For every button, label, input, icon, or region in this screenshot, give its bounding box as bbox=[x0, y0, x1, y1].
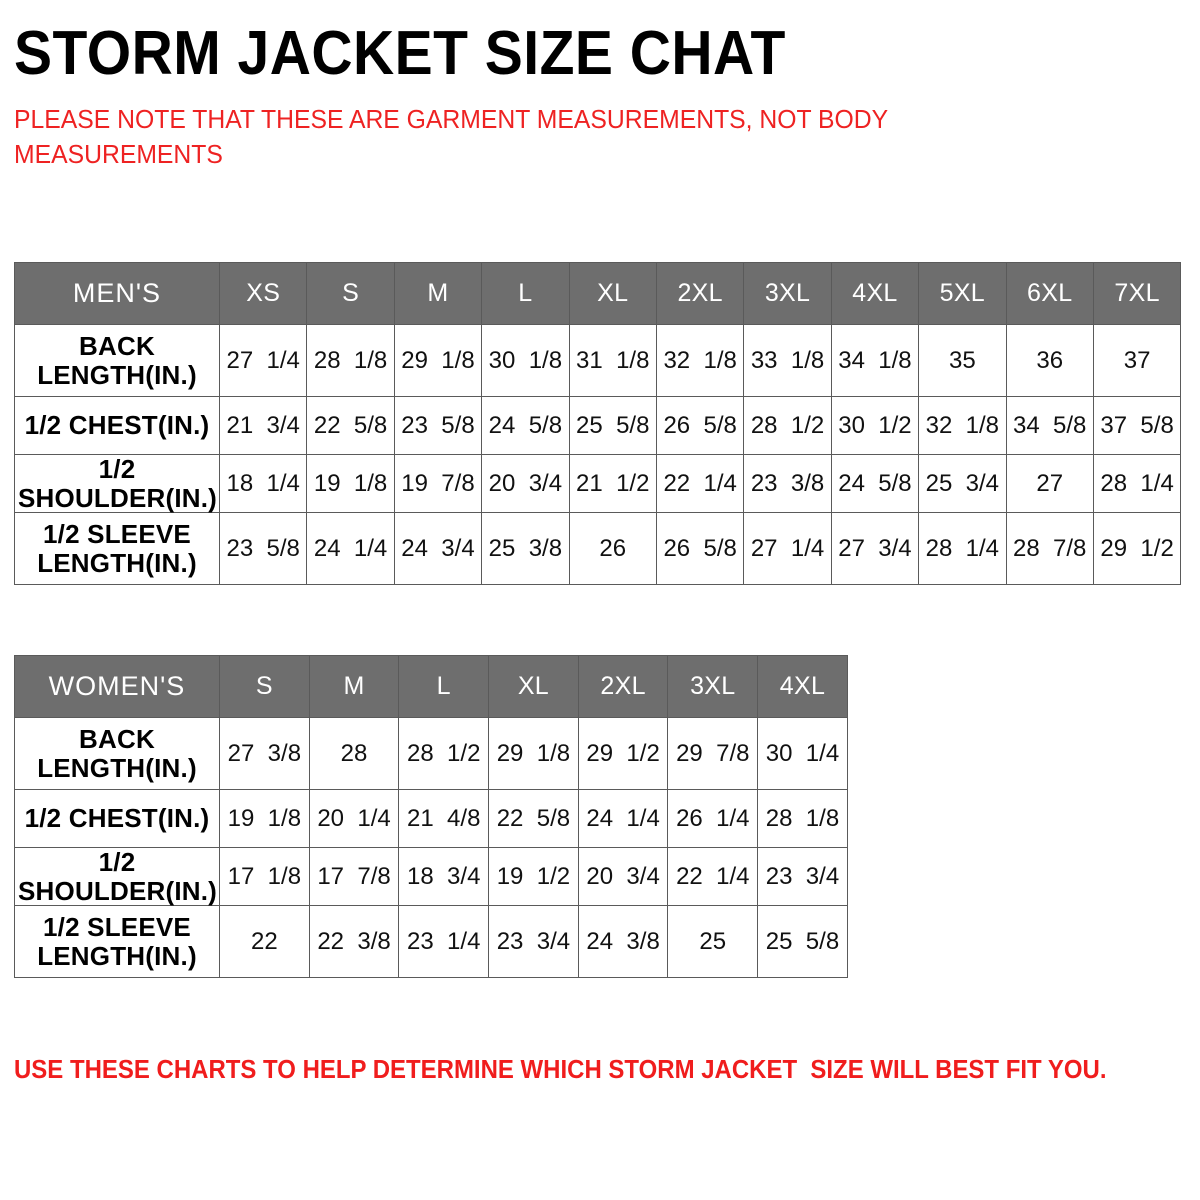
womens-cell-r0-c3: 29 1/8 bbox=[489, 718, 579, 790]
table-row: BACK LENGTH(IN.)27 1/428 1/829 1/830 1/8… bbox=[15, 325, 1181, 397]
mens-size-header-3xl: 3XL bbox=[744, 263, 831, 325]
mens-table-head: MEN'SXSSMLXL2XL3XL4XL5XL6XL7XL bbox=[15, 263, 1181, 325]
mens-cell-r3-c9: 28 7/8 bbox=[1006, 513, 1093, 585]
table-row: 1/2 SLEEVE LENGTH(IN.)2222 3/823 1/423 3… bbox=[15, 906, 848, 978]
womens-cell-r1-c2: 21 4/8 bbox=[399, 790, 489, 848]
mens-cell-r3-c3: 25 3/8 bbox=[482, 513, 569, 585]
womens-measurement-label-3: 1/2 SLEEVE LENGTH(IN.) bbox=[15, 906, 220, 978]
table-row: 1/2 CHEST(IN.)19 1/820 1/421 4/822 5/824… bbox=[15, 790, 848, 848]
mens-cell-r2-c1: 19 1/8 bbox=[307, 455, 394, 513]
mens-cell-r1-c5: 26 5/8 bbox=[656, 397, 743, 455]
womens-size-header-xl: XL bbox=[489, 656, 579, 718]
mens-cell-r0-c7: 34 1/8 bbox=[831, 325, 918, 397]
womens-cell-r0-c5: 29 7/8 bbox=[668, 718, 758, 790]
womens-cell-r3-c6: 25 5/8 bbox=[758, 906, 848, 978]
mens-cell-r0-c9: 36 bbox=[1006, 325, 1093, 397]
mens-cell-r3-c10: 29 1/2 bbox=[1093, 513, 1180, 585]
womens-table-head: WOMEN'SSMLXL2XL3XL4XL bbox=[15, 656, 848, 718]
womens-measurement-label-1: 1/2 CHEST(IN.) bbox=[15, 790, 220, 848]
womens-cell-r1-c1: 20 1/4 bbox=[309, 790, 399, 848]
size-chart-page: STORM JACKET SIZE CHAT PLEASE NOTE THAT … bbox=[0, 0, 1200, 1200]
womens-size-header-2xl: 2XL bbox=[578, 656, 668, 718]
mens-size-header-xl: XL bbox=[569, 263, 656, 325]
mens-cell-r2-c7: 24 5/8 bbox=[831, 455, 918, 513]
mens-cell-r2-c4: 21 1/2 bbox=[569, 455, 656, 513]
mens-size-header-s: S bbox=[307, 263, 394, 325]
mens-size-header-xs: XS bbox=[220, 263, 307, 325]
mens-cell-r2-c8: 25 3/4 bbox=[919, 455, 1006, 513]
womens-cell-r3-c1: 22 3/8 bbox=[309, 906, 399, 978]
mens-cell-r2-c3: 20 3/4 bbox=[482, 455, 569, 513]
mens-cell-r0-c3: 30 1/8 bbox=[482, 325, 569, 397]
mens-size-header-m: M bbox=[394, 263, 481, 325]
womens-cell-r3-c0: 22 bbox=[220, 906, 310, 978]
mens-cell-r2-c2: 19 7/8 bbox=[394, 455, 481, 513]
mens-size-header-2xl: 2XL bbox=[656, 263, 743, 325]
womens-cell-r0-c0: 27 3/8 bbox=[220, 718, 310, 790]
womens-table-body: BACK LENGTH(IN.)27 3/82828 1/229 1/829 1… bbox=[15, 718, 848, 978]
mens-cell-r3-c2: 24 3/4 bbox=[394, 513, 481, 585]
mens-cell-r3-c0: 23 5/8 bbox=[220, 513, 307, 585]
mens-measurement-label-2: 1/2 SHOULDER(IN.) bbox=[15, 455, 220, 513]
mens-cell-r1-c0: 21 3/4 bbox=[220, 397, 307, 455]
mens-cell-r3-c8: 28 1/4 bbox=[919, 513, 1006, 585]
table-row: 1/2 SLEEVE LENGTH(IN.)23 5/824 1/424 3/4… bbox=[15, 513, 1181, 585]
mens-size-header-6xl: 6XL bbox=[1006, 263, 1093, 325]
mens-cell-r0-c4: 31 1/8 bbox=[569, 325, 656, 397]
womens-cell-r3-c4: 24 3/8 bbox=[578, 906, 668, 978]
womens-size-header-4xl: 4XL bbox=[758, 656, 848, 718]
mens-cell-r0-c2: 29 1/8 bbox=[394, 325, 481, 397]
mens-cell-r2-c6: 23 3/8 bbox=[744, 455, 831, 513]
womens-size-header-3xl: 3XL bbox=[668, 656, 758, 718]
help-determine-note: USE THESE CHARTS TO HELP DETERMINE WHICH… bbox=[14, 1055, 1107, 1086]
womens-size-header-l: L bbox=[399, 656, 489, 718]
womens-cell-r3-c3: 23 3/4 bbox=[489, 906, 579, 978]
mens-cell-r1-c3: 24 5/8 bbox=[482, 397, 569, 455]
mens-measurement-label-1: 1/2 CHEST(IN.) bbox=[15, 397, 220, 455]
table-row: 1/2 SHOULDER(IN.)17 1/817 7/818 3/419 1/… bbox=[15, 848, 848, 906]
womens-cell-r0-c6: 30 1/4 bbox=[758, 718, 848, 790]
mens-cell-r2-c10: 28 1/4 bbox=[1093, 455, 1180, 513]
womens-measurement-label-0: BACK LENGTH(IN.) bbox=[15, 718, 220, 790]
womens-cell-r2-c4: 20 3/4 bbox=[578, 848, 668, 906]
mens-cell-r0-c5: 32 1/8 bbox=[656, 325, 743, 397]
mens-measurement-label-0: BACK LENGTH(IN.) bbox=[15, 325, 220, 397]
page-title: STORM JACKET SIZE CHAT bbox=[14, 0, 1092, 85]
womens-cell-r1-c5: 26 1/4 bbox=[668, 790, 758, 848]
womens-cell-r1-c3: 22 5/8 bbox=[489, 790, 579, 848]
mens-cell-r1-c6: 28 1/2 bbox=[744, 397, 831, 455]
mens-cell-r1-c8: 32 1/8 bbox=[919, 397, 1006, 455]
mens-cell-r1-c2: 23 5/8 bbox=[394, 397, 481, 455]
mens-cell-r0-c10: 37 bbox=[1093, 325, 1180, 397]
mens-cell-r3-c1: 24 1/4 bbox=[307, 513, 394, 585]
table-row: BACK LENGTH(IN.)27 3/82828 1/229 1/829 1… bbox=[15, 718, 848, 790]
mens-cell-r2-c5: 22 1/4 bbox=[656, 455, 743, 513]
mens-header-row: MEN'SXSSMLXL2XL3XL4XL5XL6XL7XL bbox=[15, 263, 1181, 325]
mens-group-header: MEN'S bbox=[15, 263, 220, 325]
mens-cell-r1-c7: 30 1/2 bbox=[831, 397, 918, 455]
mens-table-body: BACK LENGTH(IN.)27 1/428 1/829 1/830 1/8… bbox=[15, 325, 1181, 585]
mens-cell-r1-c1: 22 5/8 bbox=[307, 397, 394, 455]
womens-measurement-label-2: 1/2 SHOULDER(IN.) bbox=[15, 848, 220, 906]
womens-cell-r2-c3: 19 1/2 bbox=[489, 848, 579, 906]
womens-cell-r2-c6: 23 3/4 bbox=[758, 848, 848, 906]
mens-cell-r2-c9: 27 bbox=[1006, 455, 1093, 513]
womens-size-header-s: S bbox=[220, 656, 310, 718]
mens-cell-r3-c5: 26 5/8 bbox=[656, 513, 743, 585]
mens-size-table: MEN'SXSSMLXL2XL3XL4XL5XL6XL7XL BACK LENG… bbox=[14, 262, 1181, 585]
womens-size-table: WOMEN'SSMLXL2XL3XL4XL BACK LENGTH(IN.)27… bbox=[14, 655, 848, 978]
mens-size-header-7xl: 7XL bbox=[1093, 263, 1180, 325]
mens-cell-r1-c4: 25 5/8 bbox=[569, 397, 656, 455]
womens-cell-r2-c2: 18 3/4 bbox=[399, 848, 489, 906]
womens-cell-r3-c2: 23 1/4 bbox=[399, 906, 489, 978]
mens-measurement-label-3: 1/2 SLEEVE LENGTH(IN.) bbox=[15, 513, 220, 585]
womens-cell-r1-c6: 28 1/8 bbox=[758, 790, 848, 848]
womens-cell-r0-c4: 29 1/2 bbox=[578, 718, 668, 790]
mens-cell-r3-c6: 27 1/4 bbox=[744, 513, 831, 585]
mens-cell-r0-c0: 27 1/4 bbox=[220, 325, 307, 397]
womens-cell-r1-c4: 24 1/4 bbox=[578, 790, 668, 848]
mens-size-header-l: L bbox=[482, 263, 569, 325]
womens-cell-r2-c5: 22 1/4 bbox=[668, 848, 758, 906]
mens-cell-r1-c10: 37 5/8 bbox=[1093, 397, 1180, 455]
mens-size-header-4xl: 4XL bbox=[831, 263, 918, 325]
womens-size-header-m: M bbox=[309, 656, 399, 718]
womens-cell-r2-c0: 17 1/8 bbox=[220, 848, 310, 906]
womens-cell-r3-c5: 25 bbox=[668, 906, 758, 978]
mens-cell-r3-c7: 27 3/4 bbox=[831, 513, 918, 585]
womens-cell-r1-c0: 19 1/8 bbox=[220, 790, 310, 848]
womens-cell-r0-c2: 28 1/2 bbox=[399, 718, 489, 790]
mens-cell-r3-c4: 26 bbox=[569, 513, 656, 585]
mens-cell-r0-c8: 35 bbox=[919, 325, 1006, 397]
garment-measurement-note: PLEASE NOTE THAT THESE ARE GARMENT MEASU… bbox=[14, 85, 936, 172]
table-row: 1/2 SHOULDER(IN.)18 1/419 1/819 7/820 3/… bbox=[15, 455, 1181, 513]
table-row: 1/2 CHEST(IN.)21 3/422 5/823 5/824 5/825… bbox=[15, 397, 1181, 455]
mens-cell-r0-c1: 28 1/8 bbox=[307, 325, 394, 397]
mens-cell-r1-c9: 34 5/8 bbox=[1006, 397, 1093, 455]
mens-cell-r0-c6: 33 1/8 bbox=[744, 325, 831, 397]
womens-cell-r2-c1: 17 7/8 bbox=[309, 848, 399, 906]
mens-size-header-5xl: 5XL bbox=[919, 263, 1006, 325]
womens-cell-r0-c1: 28 bbox=[309, 718, 399, 790]
womens-header-row: WOMEN'SSMLXL2XL3XL4XL bbox=[15, 656, 848, 718]
mens-cell-r2-c0: 18 1/4 bbox=[220, 455, 307, 513]
womens-group-header: WOMEN'S bbox=[15, 656, 220, 718]
